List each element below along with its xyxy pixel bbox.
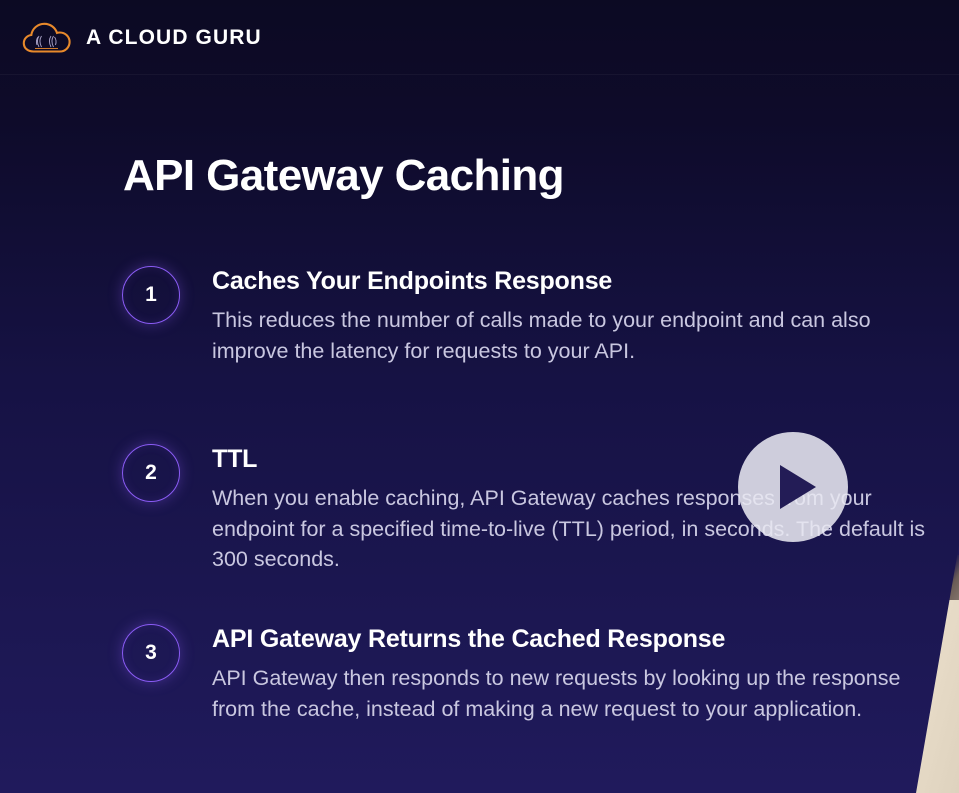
page-title: API Gateway Caching [123, 152, 564, 200]
list-item-text: This reduces the number of calls made to… [212, 305, 912, 366]
list-item-heading: API Gateway Returns the Cached Response [212, 624, 902, 654]
step-number-badge: 3 [122, 624, 180, 682]
list-item-text: API Gateway then responds to new request… [212, 663, 902, 724]
brand-header: A CLOUD GURU [0, 0, 959, 75]
list-item-body: Caches Your Endpoints Response This redu… [212, 266, 912, 366]
list-item: 1 Caches Your Endpoints Response This re… [122, 266, 912, 366]
header-divider [0, 74, 959, 75]
brand-name: A CLOUD GURU [86, 26, 262, 50]
step-number-badge: 2 [122, 444, 180, 502]
cloud-logo-icon [22, 21, 72, 55]
slide-content: A CLOUD GURU API Gateway Caching 1 Cache… [0, 0, 959, 793]
list-item-heading: Caches Your Endpoints Response [212, 266, 912, 296]
list-item-body: API Gateway Returns the Cached Response … [212, 624, 902, 724]
video-slide: A CLOUD GURU API Gateway Caching 1 Cache… [0, 0, 959, 793]
play-icon[interactable] [738, 432, 848, 542]
play-triangle [780, 465, 816, 509]
step-number-badge: 1 [122, 266, 180, 324]
list-item: 3 API Gateway Returns the Cached Respons… [122, 624, 902, 724]
